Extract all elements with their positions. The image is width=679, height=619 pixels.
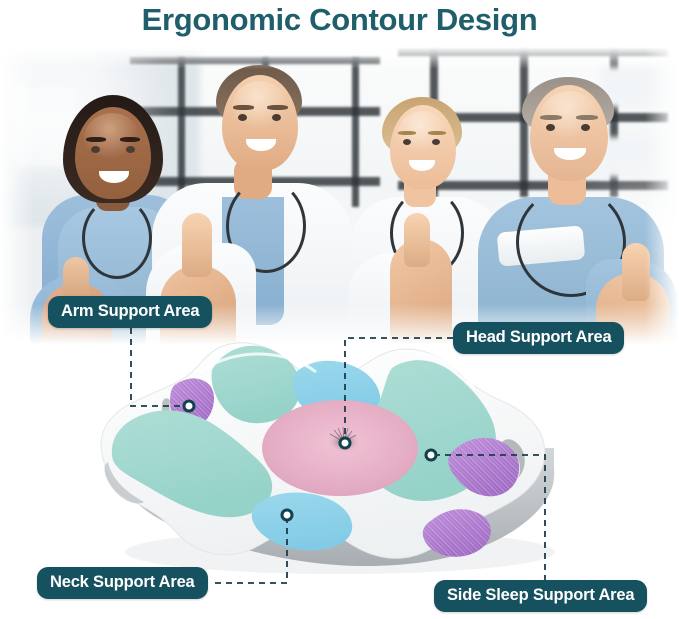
callout-head-support-area[interactable]: Head Support Area (453, 322, 624, 354)
callout-side-sleep-support-area[interactable]: Side Sleep Support Area (434, 580, 647, 612)
callout-arm-support-area[interactable]: Arm Support Area (48, 296, 212, 328)
callout-neck-support-area[interactable]: Neck Support Area (37, 567, 208, 599)
product-feature-page: Ergonomic Contour Design (0, 0, 679, 619)
